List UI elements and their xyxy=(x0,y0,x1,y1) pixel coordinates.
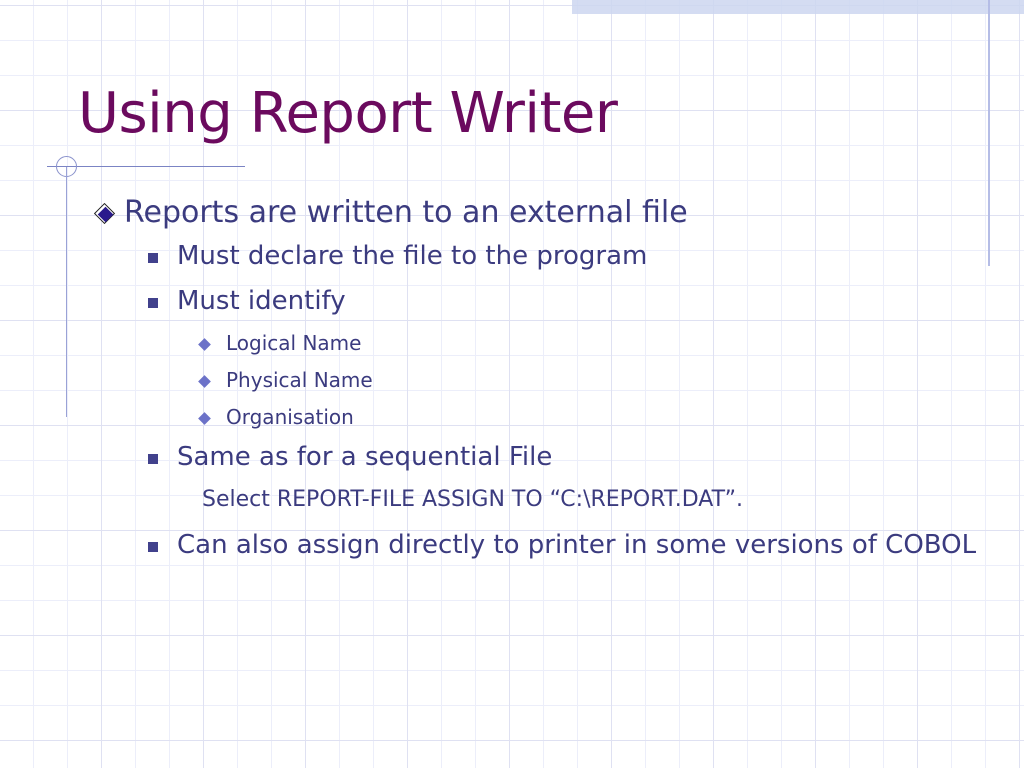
list-item-level2: Must declare the file to the program xyxy=(0,241,1024,272)
list-item-level2: Can also assign directly to printer in s… xyxy=(0,530,1024,561)
small-diamond-bullet-icon xyxy=(198,375,211,388)
square-bullet-icon xyxy=(148,298,158,308)
page-title: Using Report Writer xyxy=(78,85,617,144)
list-item-label: Can also assign directly to printer in s… xyxy=(177,530,977,561)
list-item-level3: Physical Name xyxy=(0,368,1024,392)
list-item-label: Must declare the file to the program xyxy=(177,241,977,272)
list-item-label: Must identify xyxy=(177,286,977,317)
square-bullet-icon xyxy=(148,542,158,552)
list-item-level3: Logical Name xyxy=(0,331,1024,355)
list-item-level2: Must identify xyxy=(0,286,1024,317)
top-right-blue-band xyxy=(572,0,1024,14)
list-item-level1: Reports are written to an external file xyxy=(0,196,1024,230)
list-item-level3: Organisation xyxy=(0,405,1024,429)
small-diamond-bullet-icon xyxy=(198,412,211,425)
slide-body: Reports are written to an external file … xyxy=(0,196,1024,575)
presentation-slide: Using Report Writer Reports are written … xyxy=(0,0,1024,768)
square-bullet-icon xyxy=(148,454,158,464)
list-item-label: Physical Name xyxy=(226,368,926,392)
list-item-level2: Same as for a sequential File xyxy=(0,442,1024,473)
square-bullet-icon xyxy=(148,253,158,263)
small-diamond-bullet-icon xyxy=(198,338,211,351)
list-item-label: Same as for a sequential File xyxy=(177,442,977,473)
code-sample-line: Select REPORT-FILE ASSIGN TO “C:\REPORT.… xyxy=(0,487,1024,513)
diamond-bullet-icon xyxy=(95,204,119,228)
list-item-label: Organisation xyxy=(226,405,926,429)
list-item-label: Reports are written to an external file xyxy=(124,196,964,230)
list-item-label: Logical Name xyxy=(226,331,926,355)
